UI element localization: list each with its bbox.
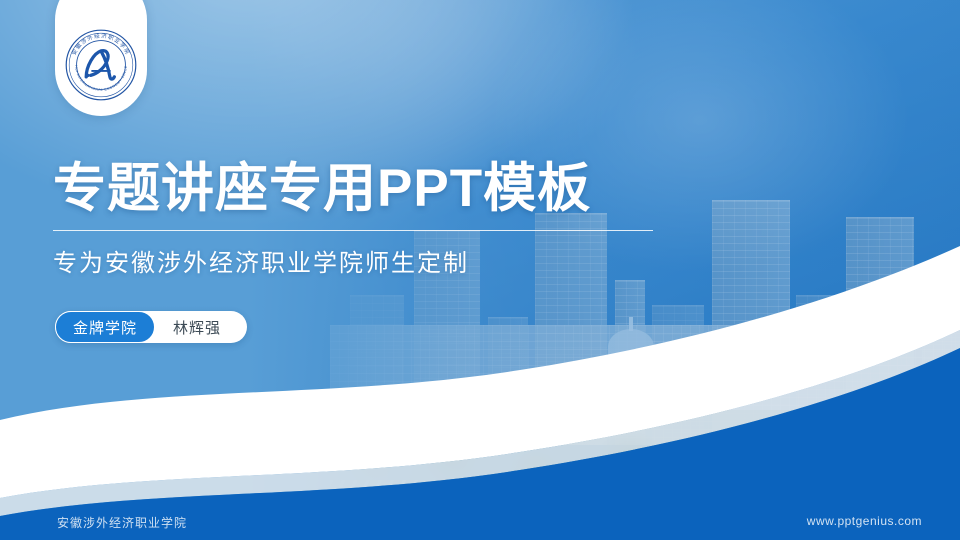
ppt-title-slide: 安徽涉外经济职业学院 ANHUI INTERNATIONAL ECONOMY C… (0, 0, 960, 540)
footer-school-name: 安徽涉外经济职业学院 (57, 514, 187, 531)
page-subtitle: 专为安徽涉外经济职业学院师生定制 (53, 243, 653, 278)
title-block: 专题讲座专用PPT模板 专为安徽涉外经济职业学院师生定制 (53, 160, 653, 278)
logo-tab: 安徽涉外经济职业学院 ANHUI INTERNATIONAL ECONOMY C… (55, 0, 147, 116)
page-title: 专题讲座专用PPT模板 (53, 160, 653, 217)
school-seal-logo: 安徽涉外经济职业学院 ANHUI INTERNATIONAL ECONOMY C… (64, 28, 138, 102)
badge-presenter-name: 林辉强 (155, 317, 243, 338)
title-divider (53, 230, 653, 231)
footer-website[interactable]: www.pptgenius.com (807, 514, 922, 528)
seal-monogram (86, 51, 114, 79)
badge-gold-college[interactable]: 金牌学院 (55, 311, 155, 343)
badge-group: 金牌学院 林辉强 (55, 311, 247, 343)
